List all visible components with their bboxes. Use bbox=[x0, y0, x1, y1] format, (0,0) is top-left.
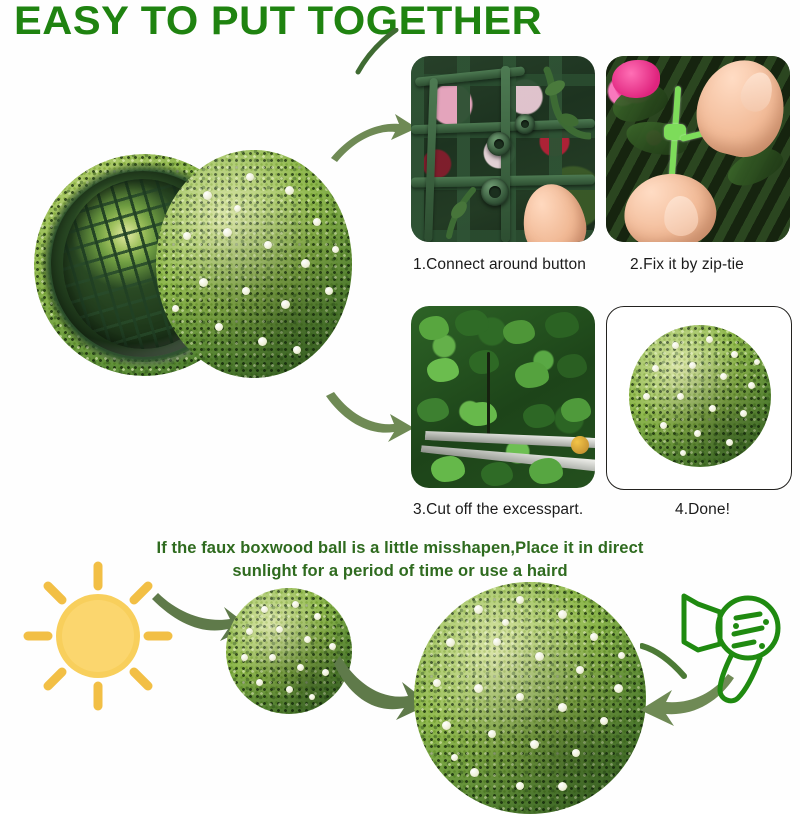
tip-text: If the faux boxwood ball is a little mis… bbox=[120, 537, 680, 583]
connector-button-upper bbox=[487, 132, 511, 156]
leaf bbox=[463, 402, 497, 426]
leaf bbox=[503, 320, 535, 344]
leaf bbox=[523, 404, 555, 428]
leaf bbox=[515, 362, 549, 388]
leaf bbox=[417, 398, 449, 422]
scissor-screw bbox=[571, 436, 589, 454]
step-2-caption: 2.Fix it by zip-tie bbox=[630, 256, 744, 274]
step-4-photo bbox=[606, 306, 792, 490]
infographic-canvas: EASY TO PUT TOGETHER bbox=[0, 0, 800, 800]
zip-tie-excess-stem bbox=[487, 352, 490, 438]
step-2-photo bbox=[606, 56, 790, 242]
leaf bbox=[469, 350, 499, 374]
pink-flower-step-2 bbox=[612, 60, 660, 98]
step-3-photo bbox=[411, 306, 595, 488]
leaf bbox=[557, 354, 587, 378]
finished-topiary-ball bbox=[629, 325, 771, 467]
hero-product-photo bbox=[38, 150, 348, 380]
leaf bbox=[561, 398, 591, 422]
tip-line-2: sunlight for a period of time or use a h… bbox=[120, 560, 680, 583]
leaf bbox=[431, 456, 465, 482]
step-3-caption: 3.Cut off the excesspart. bbox=[413, 501, 583, 519]
stray-leaf-decor bbox=[330, 28, 400, 84]
leaf bbox=[419, 316, 449, 340]
leaf bbox=[529, 458, 563, 484]
hero-dome-hemisphere bbox=[156, 150, 352, 378]
arrow-to-step-1 bbox=[325, 100, 420, 170]
grid-vine-decor-2 bbox=[439, 174, 495, 240]
large-boxwood-ball bbox=[414, 582, 646, 814]
step-1-caption: 1.Connect around button bbox=[413, 256, 586, 274]
arrow-to-step-3 bbox=[322, 378, 417, 448]
tip-line-1: If the faux boxwood ball is a little mis… bbox=[120, 537, 680, 560]
leaf bbox=[455, 310, 489, 336]
leaf bbox=[481, 462, 513, 486]
grid-vine-decor bbox=[529, 66, 591, 146]
hairdryer-icon bbox=[676, 588, 788, 706]
leaf bbox=[545, 312, 579, 338]
step-1-photo bbox=[411, 56, 595, 242]
page-title: EASY TO PUT TOGETHER bbox=[14, 0, 638, 44]
step-4-caption: 4.Done! bbox=[675, 501, 730, 519]
leaf bbox=[427, 358, 459, 382]
